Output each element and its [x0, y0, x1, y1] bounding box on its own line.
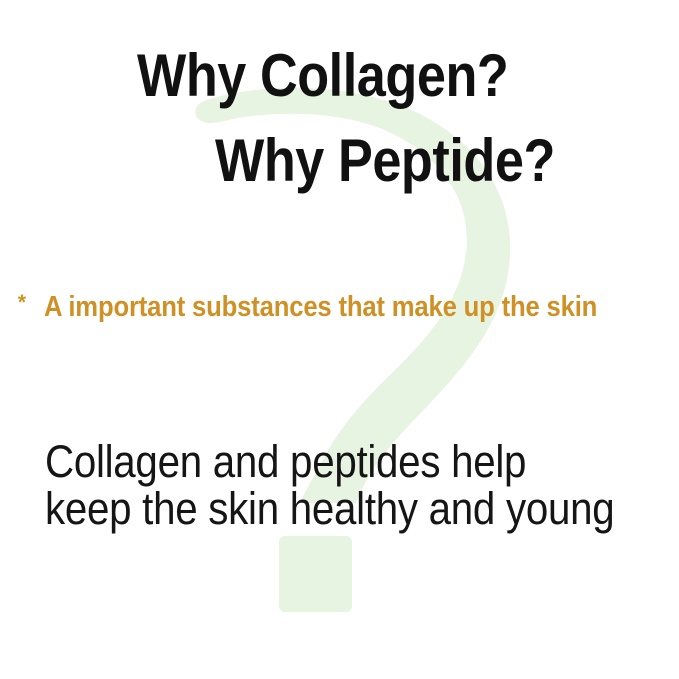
- asterisk-icon: *: [12, 292, 32, 314]
- page-title-line-2: Why Peptide?: [215, 131, 555, 191]
- body-copy-line-2: keep the skin healthy and young: [45, 485, 614, 532]
- page-title-line-1: Why Collagen?: [137, 46, 508, 106]
- body-copy-line-1: Collagen and peptides help: [45, 438, 614, 485]
- collagen-peptide-infographic: Why Collagen? Why Peptide? * A important…: [0, 0, 679, 679]
- body-copy: Collagen and peptides help keep the skin…: [45, 438, 679, 532]
- bullet-row: * A important substances that make up th…: [12, 292, 669, 322]
- question-mark-dot: [279, 536, 352, 612]
- bullet-label: A important substances that make up the …: [44, 292, 597, 322]
